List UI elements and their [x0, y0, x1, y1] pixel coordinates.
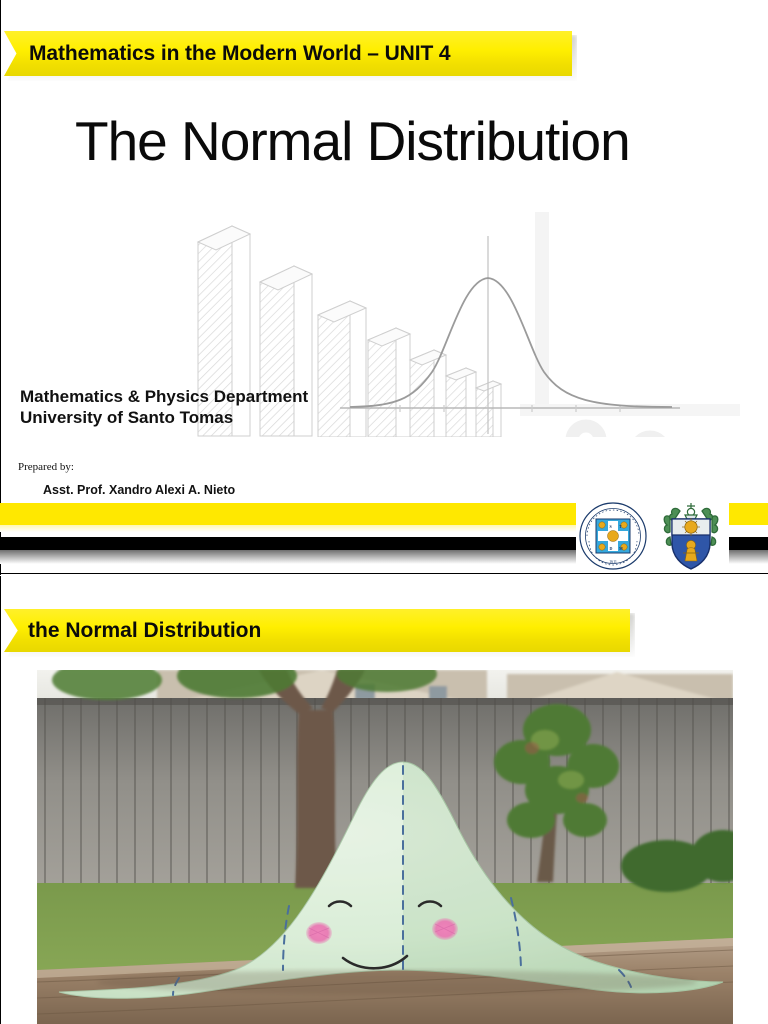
svg-text:T: T	[619, 524, 622, 529]
yellow-band-fade	[0, 525, 576, 532]
slide-1: Mathematics in the Modern World – UNIT 4…	[0, 0, 768, 575]
slide2-banner-label: the Normal Distribution	[28, 619, 261, 643]
black-band-right	[729, 537, 768, 550]
ust-pontifical-seal-icon: ST DM 1611	[578, 501, 648, 571]
ust-coat-of-arms-icon	[656, 501, 726, 571]
black-band-fade-right	[729, 550, 768, 564]
svg-text:1611: 1611	[609, 559, 617, 564]
slide1-banner-label: Mathematics in the Modern World – UNIT 4	[29, 42, 451, 66]
department-text: Mathematics & Physics Department Univers…	[20, 386, 308, 429]
prepared-by-label: Prepared by:	[18, 461, 74, 473]
svg-text:M: M	[619, 546, 623, 551]
bell-curve-plush-photo	[37, 670, 733, 1024]
slide2-title-banner: the Normal Distribution	[4, 609, 630, 652]
yellow-band-left	[0, 503, 576, 525]
yellow-band-right	[729, 503, 768, 525]
slide1-title-banner: Mathematics in the Modern World – UNIT 4	[4, 31, 572, 76]
prepared-by-name: Asst. Prof. Xandro Alexi A. Nieto	[43, 483, 235, 497]
black-band-fade-left	[0, 550, 576, 564]
slides-page: Mathematics in the Modern World – UNIT 4…	[0, 0, 768, 1024]
page-title: The Normal Distribution	[75, 113, 755, 171]
university-logos: ST DM 1611	[578, 500, 730, 572]
black-band-left	[0, 537, 576, 550]
svg-text:D: D	[610, 546, 613, 551]
